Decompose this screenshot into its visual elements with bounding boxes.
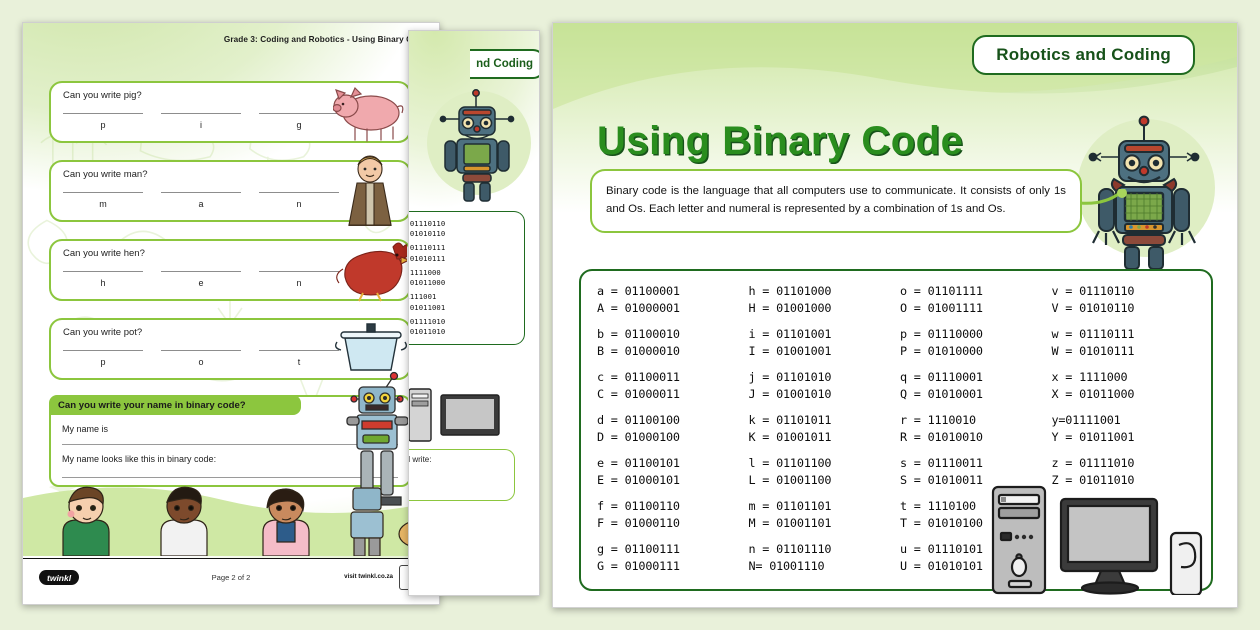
binary-row: Y = 01011001 (1052, 429, 1198, 446)
middle-binary-table: = 01110110 = 01010110 = 01110111 = 01010… (408, 211, 525, 345)
answer-blank[interactable]: p (63, 113, 143, 130)
binary-row: = 1111000 (408, 268, 520, 278)
binary-row: = 01010110 (408, 229, 520, 239)
binary-row: o = 01101111 (900, 283, 1046, 300)
question-prompt: Can you write pig? (63, 90, 142, 101)
binary-pair: n = 01101110N= 01001110 (749, 541, 895, 575)
binary-row: x = 1111000 (1052, 369, 1198, 386)
binary-pair: c = 01100011C = 01000011 (597, 369, 743, 403)
question-prompt: Can you write hen? (63, 248, 145, 259)
binary-pair: a = 01100001A = 01000001 (597, 283, 743, 317)
answer-blanks: m a n (63, 192, 339, 209)
binary-row: g = 01100111 (597, 541, 743, 558)
blank-letter: t (259, 357, 339, 367)
binary-pair: l = 01101100L = 01001100 (749, 455, 895, 489)
binary-row: D = 01000100 (597, 429, 743, 446)
blank-letter: p (63, 357, 143, 367)
binary-row: i = 01101001 (749, 326, 895, 343)
binary-pair: p = 01110000P = 01010000 (900, 326, 1046, 360)
answer-blank[interactable]: n (259, 271, 339, 288)
middle-robot-illustration (417, 85, 535, 205)
binary-row: = 01010111 (408, 254, 520, 264)
answer-blank[interactable]: h (63, 271, 143, 288)
answer-blank[interactable]: t (259, 350, 339, 367)
blank-letter: o (161, 357, 241, 367)
middle-write-box: ould write: (408, 449, 515, 501)
binary-pair: r = 1110010R = 01010010 (900, 412, 1046, 446)
answer-blanks: p o t (63, 350, 339, 367)
children-illustration (23, 472, 440, 556)
binary-column-2: h = 01101000H = 01001000 i = 01101001I =… (749, 283, 895, 584)
binary-pair: q = 01110001Q = 01010001 (900, 369, 1046, 403)
answer-blank[interactable]: o (161, 350, 241, 367)
worksheet-header-title: Grade 3: Coding and Robotics - Using Bin… (224, 35, 427, 44)
blank-letter: n (259, 199, 339, 209)
binary-row: A = 01000001 (597, 300, 743, 317)
blank-letter: n (259, 278, 339, 288)
pig-illustration (333, 73, 407, 145)
binary-row: r = 1110010 (900, 412, 1046, 429)
binary-row: W = 01010111 (1052, 343, 1198, 360)
binary-pair: m = 01101101M = 01001101 (749, 498, 895, 532)
binary-row: f = 01100110 (597, 498, 743, 515)
binary-row: = 01011010 (408, 327, 520, 337)
binary-row: I = 01001001 (749, 343, 895, 360)
binary-row: v = 01110110 (1052, 283, 1198, 300)
binary-row: a = 01100001 (597, 283, 743, 300)
answer-blank[interactable]: g (259, 113, 339, 130)
question-prompt: Can you write pot? (63, 327, 142, 338)
binary-row: K = 01001011 (749, 429, 895, 446)
binary-pair: b = 01100010B = 01000010 (597, 326, 743, 360)
binary-row: V = 01010110 (1052, 300, 1198, 317)
name-task-heading: Can you write your name in binary code? (49, 395, 301, 415)
binary-row: n = 01101110 (749, 541, 895, 558)
answer-blank[interactable]: p (63, 350, 143, 367)
blank-letter: i (161, 120, 241, 130)
binary-row: e = 01100101 (597, 455, 743, 472)
binary-row: j = 01101010 (749, 369, 895, 386)
left-worksheet-page: Grade 3: Coding and Robotics - Using Bin… (22, 22, 440, 605)
middle-computer-illustration (408, 383, 511, 443)
blank-letter: m (63, 199, 143, 209)
worksheet-footer: twinkl Page 2 of 2 visit twinkl.co.za (23, 558, 439, 604)
page-title: Using Binary Code (597, 119, 963, 164)
binary-row: m = 01101101 (749, 498, 895, 515)
man-illustration (333, 144, 407, 226)
intro-paragraph: Binary code is the language that all com… (606, 182, 1066, 219)
binary-row: c = 01100011 (597, 369, 743, 386)
blank-letter: h (63, 278, 143, 288)
binary-row: 01111001 (408, 292, 520, 302)
answer-blanks: p i g (63, 113, 339, 130)
middle-page-badge: nd Coding (470, 49, 540, 79)
answer-blank[interactable]: n (259, 192, 339, 209)
binary-row: N= 01001110 (749, 558, 895, 575)
binary-row: H = 01001000 (749, 300, 895, 317)
binary-row: = 01011000 (408, 278, 520, 288)
binary-code-table: a = 01100001A = 01000001 b = 01100010B =… (579, 269, 1213, 591)
binary-row: B = 01000010 (597, 343, 743, 360)
binary-row: Q = 01010001 (900, 386, 1046, 403)
question-card-man: Can you write man? m a n (49, 160, 411, 222)
binary-column-1: a = 01100001A = 01000001 b = 01100010B =… (597, 283, 743, 584)
binary-pair: f = 01100110F = 01000110 (597, 498, 743, 532)
binary-row: R = 01010010 (900, 429, 1046, 446)
computer-illustrations (975, 475, 1205, 595)
question-card-pig: Can you write pig? p i g (49, 81, 411, 143)
binary-row: C = 01000011 (597, 386, 743, 403)
intro-text-box: Binary code is the language that all com… (590, 169, 1082, 233)
hen-illustration (333, 225, 407, 305)
answer-blank[interactable]: e (161, 271, 241, 288)
binary-row: = 01111010 (408, 317, 520, 327)
my-name-label: My name is (62, 424, 108, 434)
binary-pair: x = 1111000X = 01011000 (1052, 369, 1198, 403)
binary-row: z = 01111010 (1052, 455, 1198, 472)
binary-pair: e = 01100101E = 01000101 (597, 455, 743, 489)
binary-row: l = 01101100 (749, 455, 895, 472)
binary-pair: i = 01101001I = 01001001 (749, 326, 895, 360)
blank-letter: e (161, 278, 241, 288)
binary-row: k = 01101011 (749, 412, 895, 429)
binary-name-label: My name looks like this in binary code: (62, 454, 216, 464)
binary-pair: g = 01100111G = 01000111 (597, 541, 743, 575)
right-poster-page: Robotics and Coding (552, 22, 1238, 608)
binary-pair: w = 01110111W = 01010111 (1052, 326, 1198, 360)
speech-bubble-tail (1080, 189, 1128, 211)
binary-row: O = 01001111 (900, 300, 1046, 317)
blank-letter: p (63, 120, 143, 130)
binary-row: h = 01101000 (749, 283, 895, 300)
binary-row: = 01011001 (408, 303, 520, 313)
blank-letter: g (259, 120, 339, 130)
binary-row: X = 01011000 (1052, 386, 1198, 403)
binary-row: J = 01001010 (749, 386, 895, 403)
binary-pair: d = 01100100D = 01000100 (597, 412, 743, 446)
answer-blank[interactable]: m (63, 192, 143, 209)
middle-write-label: ould write: (408, 455, 431, 464)
binary-row: b = 01100010 (597, 326, 743, 343)
binary-row: w = 01110111 (1052, 326, 1198, 343)
robotics-coding-badge: Robotics and Coding (972, 35, 1195, 75)
answer-blank[interactable]: i (161, 113, 241, 130)
binary-row: q = 01110001 (900, 369, 1046, 386)
binary-row: y=01111001 (1052, 412, 1198, 429)
binary-pair: h = 01101000H = 01001000 (749, 283, 895, 317)
binary-row: = 01110110 (408, 219, 520, 229)
binary-pair: v = 01110110V = 01010110 (1052, 283, 1198, 317)
binary-row: P = 01010000 (900, 343, 1046, 360)
binary-pair: j = 01101010J = 01001010 (749, 369, 895, 403)
question-card-hen: Can you write hen? h e n (49, 239, 411, 301)
middle-partial-page: nd Coding = 01110110 = 01010110 = 0111 (408, 30, 540, 596)
binary-row: F = 01000110 (597, 515, 743, 532)
binary-row: s = 01110011 (900, 455, 1046, 472)
binary-row: E = 01000101 (597, 472, 743, 489)
blank-letter: a (161, 199, 241, 209)
binary-row: M = 01001101 (749, 515, 895, 532)
binary-row: d = 01100100 (597, 412, 743, 429)
binary-pair: o = 01101111O = 01001111 (900, 283, 1046, 317)
binary-row: G = 01000111 (597, 558, 743, 575)
binary-row: L = 01001100 (749, 472, 895, 489)
binary-row: p = 01110000 (900, 326, 1046, 343)
binary-pair: y=01111001Y = 01011001 (1052, 412, 1198, 446)
question-prompt: Can you write man? (63, 169, 147, 180)
answer-blanks: h e n (63, 271, 339, 288)
answer-blank[interactable]: a (161, 192, 241, 209)
visit-url-text: visit twinkl.co.za (344, 573, 393, 580)
binary-pair: k = 01101011K = 01001011 (749, 412, 895, 446)
binary-row: = 01110111 (408, 243, 520, 253)
